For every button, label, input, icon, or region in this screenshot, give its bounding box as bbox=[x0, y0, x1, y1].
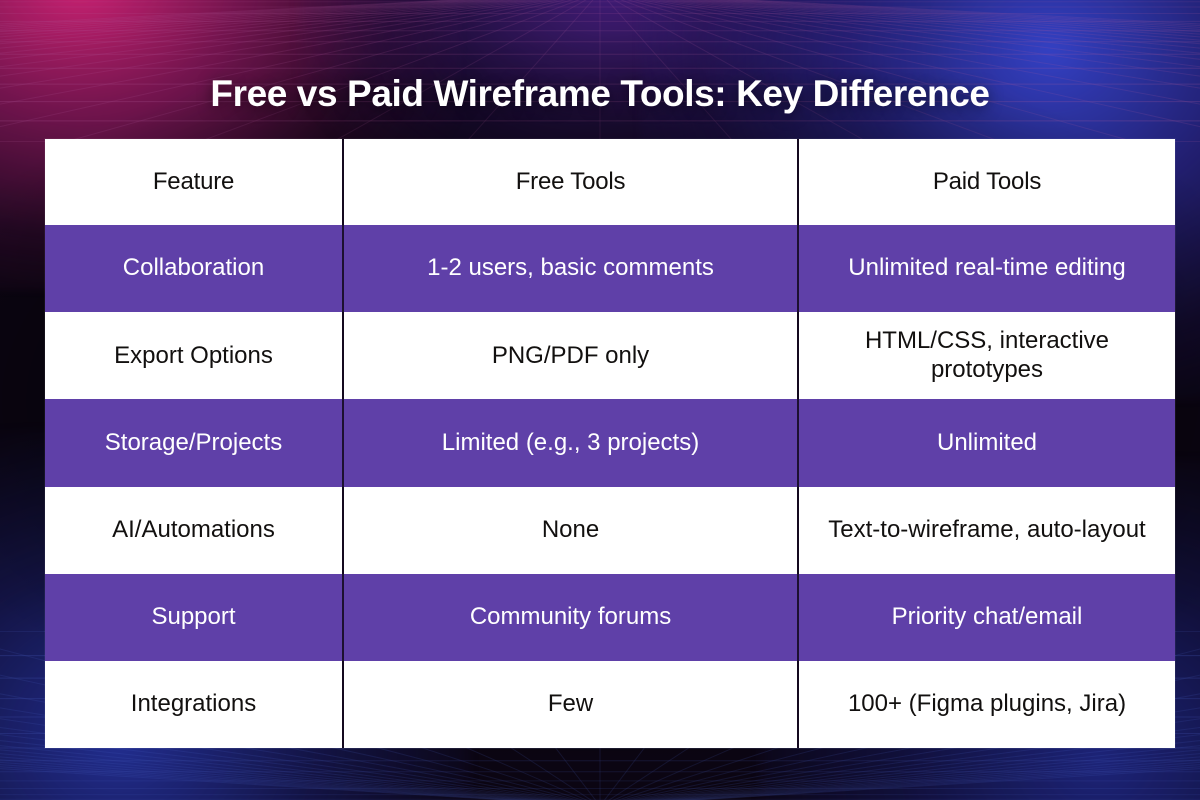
table-cell-r5-c1: Few bbox=[344, 661, 799, 748]
table-cell-r1-c0: Export Options bbox=[45, 312, 344, 399]
slide-canvas: Free vs Paid Wireframe Tools: Key Differ… bbox=[0, 0, 1200, 800]
table-cell-r4-c0: Support bbox=[45, 574, 344, 661]
table-header-row: FeatureFree ToolsPaid Tools bbox=[45, 139, 1175, 225]
table-row: Export OptionsPNG/PDF onlyHTML/CSS, inte… bbox=[45, 312, 1175, 399]
table-cell-r0-c0: Collaboration bbox=[45, 225, 344, 312]
table-header-cell-2: Paid Tools bbox=[799, 139, 1175, 225]
table-cell-r0-c1: 1-2 users, basic comments bbox=[344, 225, 799, 312]
table-header-cell-0: Feature bbox=[45, 139, 344, 225]
comparison-table: FeatureFree ToolsPaid ToolsCollaboration… bbox=[45, 139, 1175, 748]
table-cell-r2-c0: Storage/Projects bbox=[45, 399, 344, 486]
table-cell-r0-c2: Unlimited real-time editing bbox=[799, 225, 1175, 312]
table-row: SupportCommunity forumsPriority chat/ema… bbox=[45, 574, 1175, 661]
table-cell-r4-c1: Community forums bbox=[344, 574, 799, 661]
table-cell-r3-c1: None bbox=[344, 487, 799, 574]
table-cell-r5-c2: 100+ (Figma plugins, Jira) bbox=[799, 661, 1175, 748]
table-header-cell-1: Free Tools bbox=[344, 139, 799, 225]
table-cell-r1-c1: PNG/PDF only bbox=[344, 312, 799, 399]
table-cell-r3-c0: AI/Automations bbox=[45, 487, 344, 574]
table-cell-r4-c2: Priority chat/email bbox=[799, 574, 1175, 661]
table-row: IntegrationsFew100+ (Figma plugins, Jira… bbox=[45, 661, 1175, 748]
table-row: AI/AutomationsNoneText-to-wireframe, aut… bbox=[45, 487, 1175, 574]
table-row: Collaboration1-2 users, basic commentsUn… bbox=[45, 225, 1175, 312]
table-cell-r5-c0: Integrations bbox=[45, 661, 344, 748]
table-cell-r2-c1: Limited (e.g., 3 projects) bbox=[344, 399, 799, 486]
table-cell-r1-c2: HTML/CSS, interactive prototypes bbox=[799, 312, 1175, 399]
table-row: Storage/ProjectsLimited (e.g., 3 project… bbox=[45, 399, 1175, 486]
table-cell-r2-c2: Unlimited bbox=[799, 399, 1175, 486]
page-title: Free vs Paid Wireframe Tools: Key Differ… bbox=[0, 74, 1200, 115]
table-cell-r3-c2: Text-to-wireframe, auto-layout bbox=[799, 487, 1175, 574]
